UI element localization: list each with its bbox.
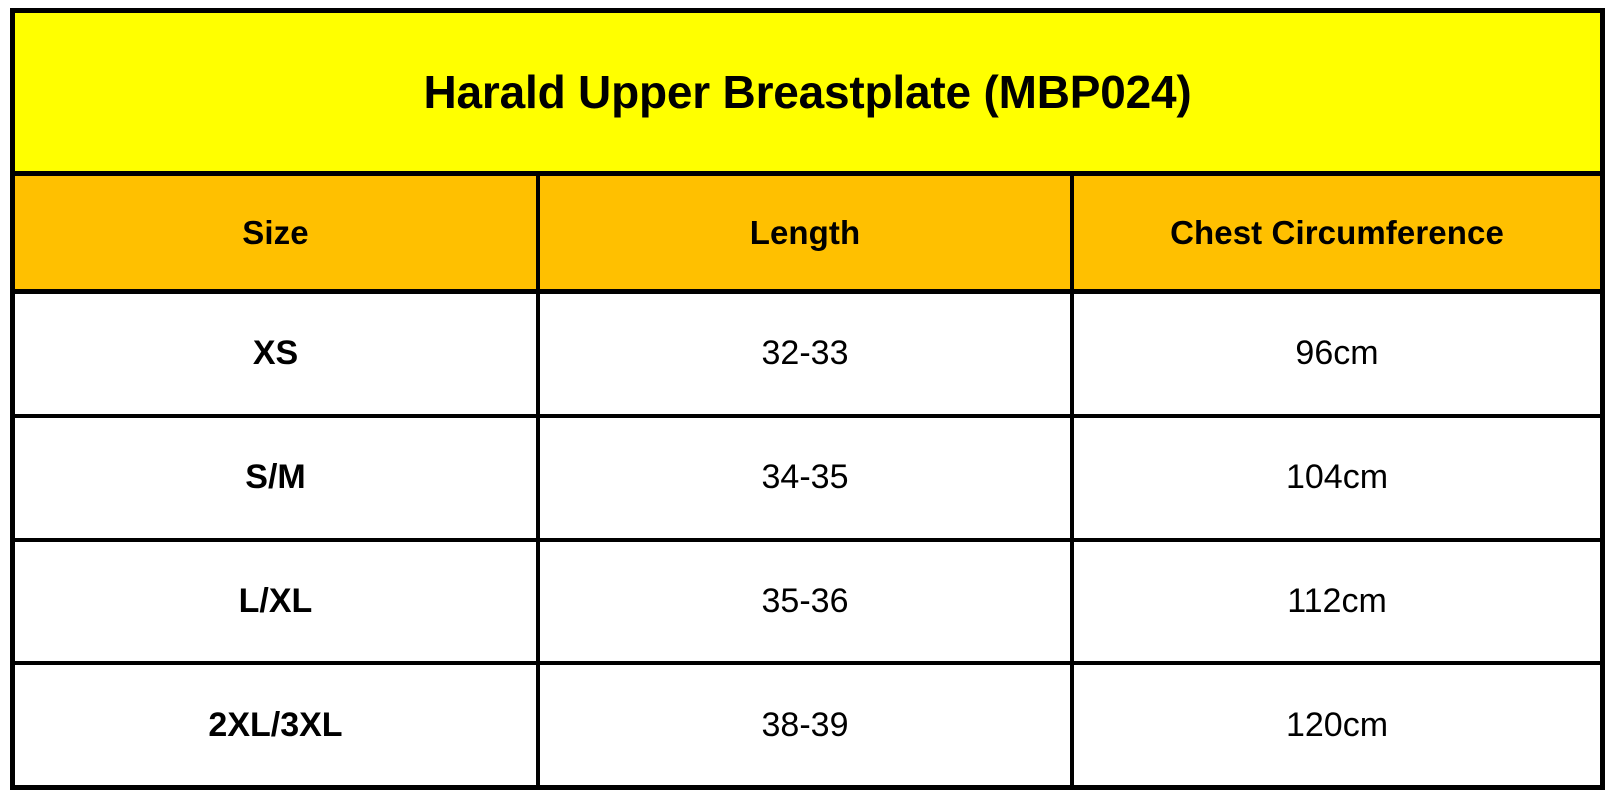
table-row: L/XL 35-36 112cm bbox=[15, 542, 1600, 666]
column-header-chest-circumference: Chest Circumference bbox=[1074, 176, 1600, 289]
cell-chest-circumference: 112cm bbox=[1074, 542, 1600, 662]
table-row: S/M 34-35 104cm bbox=[15, 418, 1600, 542]
cell-size: L/XL bbox=[15, 542, 540, 662]
cell-size: 2XL/3XL bbox=[15, 665, 540, 785]
chart-title-band: Harald Upper Breastplate (MBP024) bbox=[15, 13, 1600, 176]
cell-chest-circumference: 104cm bbox=[1074, 418, 1600, 538]
table-row: 2XL/3XL 38-39 120cm bbox=[15, 665, 1600, 785]
cell-chest-circumference: 120cm bbox=[1074, 665, 1600, 785]
cell-chest-circumference: 96cm bbox=[1074, 294, 1600, 414]
table-row: XS 32-33 96cm bbox=[15, 294, 1600, 418]
size-chart-table: Harald Upper Breastplate (MBP024) Size L… bbox=[10, 8, 1605, 790]
cell-length: 35-36 bbox=[540, 542, 1074, 662]
cell-length: 38-39 bbox=[540, 665, 1074, 785]
cell-length: 32-33 bbox=[540, 294, 1074, 414]
cell-size: XS bbox=[15, 294, 540, 414]
column-header-length: Length bbox=[540, 176, 1074, 289]
cell-size: S/M bbox=[15, 418, 540, 538]
cell-length: 34-35 bbox=[540, 418, 1074, 538]
column-header-size: Size bbox=[15, 176, 540, 289]
table-header-row: Size Length Chest Circumference bbox=[15, 176, 1600, 294]
measurements-table: Size Length Chest Circumference XS 32-33… bbox=[15, 176, 1600, 785]
page-title: Harald Upper Breastplate (MBP024) bbox=[424, 67, 1192, 118]
